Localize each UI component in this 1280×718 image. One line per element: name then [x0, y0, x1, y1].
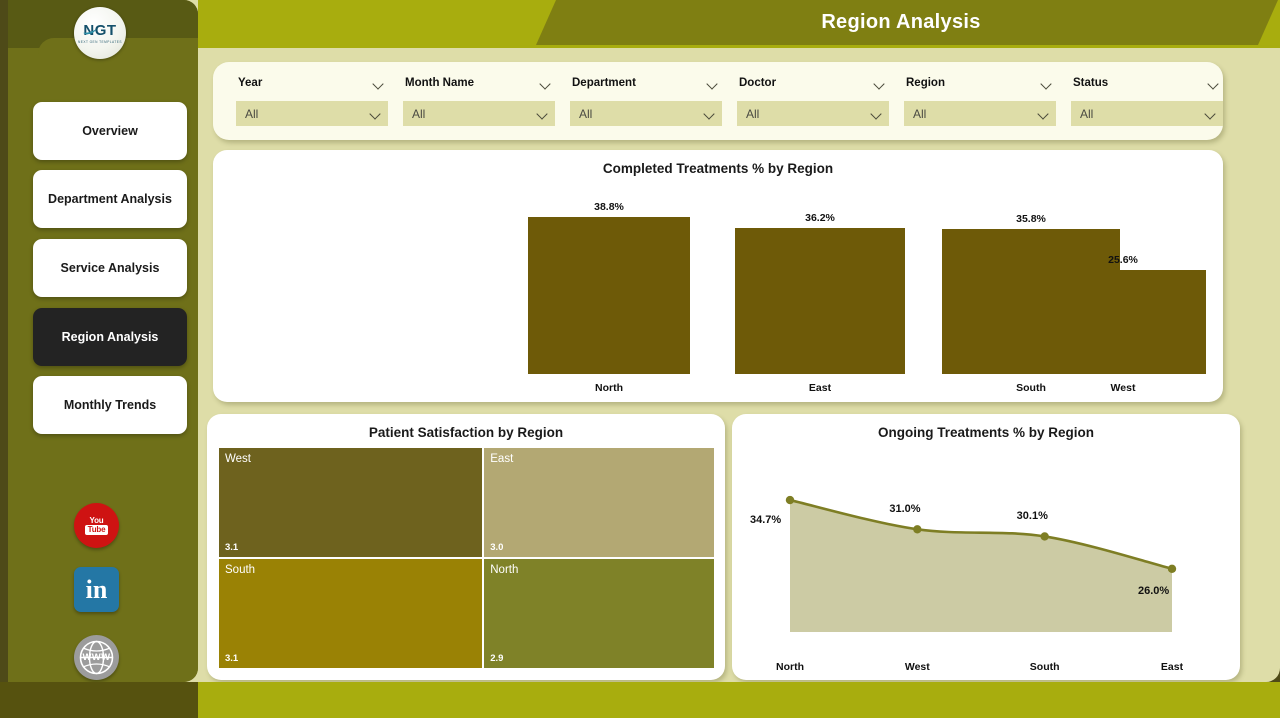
completed-treatments-card: Completed Treatments % by Region 38.8%No…: [213, 150, 1223, 402]
youtube-icon[interactable]: You Tube: [74, 503, 119, 548]
bar-value-label: 38.8%: [594, 201, 624, 213]
chevron-down-icon[interactable]: [373, 78, 384, 89]
ngt-logo: NGT NEXT GEN TEMPLATES: [74, 7, 126, 59]
treemap-tile-value: 2.9: [490, 653, 503, 664]
slicer-month-name[interactable]: Month NameAll: [403, 72, 555, 130]
slicer-doctor[interactable]: DoctorAll: [737, 72, 889, 130]
slicer-department[interactable]: DepartmentAll: [570, 72, 722, 130]
bar-group-north[interactable]: 38.8%: [528, 201, 690, 374]
filter-bar: YearAllMonth NameAllDepartmentAllDoctorA…: [213, 62, 1223, 140]
slicer-status[interactable]: StatusAll: [1071, 72, 1223, 130]
treemap-tile-value: 3.1: [225, 653, 238, 664]
sidebar-item-label: Monthly Trends: [64, 398, 156, 412]
linkedin-icon[interactable]: in: [74, 567, 119, 612]
axis-category-label: South: [995, 661, 1095, 673]
chevron-down-icon[interactable]: [370, 108, 381, 119]
sidebar-item-monthly-trends[interactable]: Monthly Trends: [33, 376, 187, 434]
footer-strip-left: [0, 682, 198, 718]
bar-category-label: South: [981, 382, 1081, 394]
page-title-banner: Region Analysis: [536, 0, 1278, 45]
dashboard-root: Region Analysis NGT NEXT GEN TEMPLATES O…: [0, 0, 1280, 718]
sidebar-item-label: Region Analysis: [62, 330, 159, 344]
slicer-dropdown[interactable]: All: [570, 101, 722, 126]
chevron-down-icon[interactable]: [1041, 78, 1052, 89]
slicer-dropdown[interactable]: All: [737, 101, 889, 126]
data-point-label: 31.0%: [889, 503, 920, 515]
bar-chart-plot: 38.8%North36.2%East35.8%South25.6%West: [213, 190, 1223, 402]
patient-satisfaction-card: Patient Satisfaction by Region West3.1Ea…: [207, 414, 725, 680]
sidebar-item-service-analysis[interactable]: Service Analysis: [33, 239, 187, 297]
ongoing-treatments-card: Ongoing Treatments % by Region 34.7%Nort…: [732, 414, 1240, 680]
slicer-header[interactable]: Status: [1071, 72, 1223, 94]
chart-title: Ongoing Treatments % by Region: [732, 425, 1240, 440]
bar-category-label: West: [1073, 382, 1173, 394]
slicer-header[interactable]: Department: [570, 72, 722, 94]
bar-category-label: East: [770, 382, 870, 394]
axis-category-label: North: [740, 661, 840, 673]
data-point-east[interactable]: [1168, 565, 1176, 573]
bar-group-west[interactable]: 25.6%: [1041, 254, 1206, 374]
area-chart-svg: [732, 450, 1240, 680]
treemap-tile-south[interactable]: South3.1: [219, 559, 482, 668]
logo-subtitle: NEXT GEN TEMPLATES: [78, 40, 122, 44]
chevron-down-icon[interactable]: [540, 78, 551, 89]
sidebar-item-overview[interactable]: Overview: [33, 102, 187, 160]
slicer-value: All: [245, 107, 258, 121]
slicer-header[interactable]: Doctor: [737, 72, 889, 94]
data-point-label: 34.7%: [750, 514, 781, 526]
slicer-value: All: [412, 107, 425, 121]
slicer-year[interactable]: YearAll: [236, 72, 388, 130]
sidebar-item-department-analysis[interactable]: Department Analysis: [33, 170, 187, 228]
slicer-label: Status: [1073, 77, 1108, 89]
footer-strip: [0, 682, 1280, 718]
chevron-down-icon[interactable]: [707, 78, 718, 89]
youtube-bottom-label: Tube: [85, 525, 109, 536]
treemap-tile-value: 3.0: [490, 542, 503, 553]
axis-category-label: East: [1122, 661, 1222, 673]
data-point-label: 26.0%: [1138, 585, 1169, 597]
bar-rect[interactable]: [735, 228, 905, 374]
www-label: WWW: [82, 652, 110, 663]
area-fill: [790, 500, 1172, 632]
chevron-down-icon[interactable]: [704, 108, 715, 119]
slicer-label: Region: [906, 77, 945, 89]
slicer-dropdown[interactable]: All: [403, 101, 555, 126]
axis-category-label: West: [867, 661, 967, 673]
sidebar-item-label: Department Analysis: [48, 192, 172, 206]
slicer-label: Department: [572, 77, 636, 89]
bar-value-label: 35.8%: [1016, 213, 1046, 225]
linkedin-glyph: in: [86, 577, 108, 603]
slicer-dropdown[interactable]: All: [236, 101, 388, 126]
treemap-tile-label: South: [225, 564, 482, 576]
slicer-value: All: [746, 107, 759, 121]
chevron-down-icon[interactable]: [1208, 78, 1219, 89]
bar-rect[interactable]: [1041, 270, 1206, 374]
slicer-label: Year: [238, 77, 262, 89]
chevron-down-icon[interactable]: [871, 108, 882, 119]
data-point-north[interactable]: [786, 496, 794, 504]
bar-value-label: 25.6%: [1108, 254, 1138, 266]
slicer-label: Doctor: [739, 77, 776, 89]
bar-group-east[interactable]: 36.2%: [735, 212, 905, 374]
slicer-value: All: [1080, 107, 1093, 121]
treemap-tile-north[interactable]: North2.9: [484, 559, 714, 668]
sidebar-item-label: Overview: [82, 124, 138, 138]
slicer-dropdown[interactable]: All: [1071, 101, 1223, 126]
slicer-header[interactable]: Month Name: [403, 72, 555, 94]
treemap-tile-east[interactable]: East3.0: [484, 448, 714, 557]
slicer-value: All: [579, 107, 592, 121]
treemap-tile-label: East: [490, 453, 714, 465]
bar-value-label: 36.2%: [805, 212, 835, 224]
slicer-label: Month Name: [405, 77, 474, 89]
chevron-down-icon[interactable]: [1205, 108, 1216, 119]
treemap-tile-label: North: [490, 564, 714, 576]
globe-icon[interactable]: WWW: [74, 635, 119, 680]
sidebar-item-label: Service Analysis: [61, 261, 160, 275]
data-point-label: 30.1%: [1017, 510, 1048, 522]
bar-rect[interactable]: [528, 217, 690, 374]
slicer-header[interactable]: Year: [236, 72, 388, 94]
data-point-west[interactable]: [913, 525, 921, 533]
treemap-tile-label: West: [225, 453, 482, 465]
youtube-top-label: You: [85, 516, 109, 525]
chart-title: Patient Satisfaction by Region: [207, 425, 725, 440]
treemap-tile-value: 3.1: [225, 542, 238, 553]
treemap-tile-west[interactable]: West3.1: [219, 448, 482, 557]
chevron-down-icon[interactable]: [537, 108, 548, 119]
data-point-south[interactable]: [1040, 532, 1048, 540]
slicer-header[interactable]: Region: [904, 72, 1056, 94]
slicer-value: All: [913, 107, 926, 121]
chevron-down-icon[interactable]: [874, 78, 885, 89]
treemap-plot: West3.1East3.0South3.1North2.9: [219, 448, 712, 668]
sidebar-item-region-analysis[interactable]: Region Analysis: [33, 308, 187, 366]
chevron-down-icon[interactable]: [1038, 108, 1049, 119]
bar-category-label: North: [559, 382, 659, 394]
page-title: Region Analysis: [821, 11, 980, 34]
area-chart-plot: 34.7%North31.0%West30.1%South26.0%East: [732, 450, 1240, 680]
chart-title: Completed Treatments % by Region: [213, 161, 1223, 176]
header-bar: Region Analysis: [198, 0, 1280, 48]
slicer-region[interactable]: RegionAll: [904, 72, 1056, 130]
slicer-dropdown[interactable]: All: [904, 101, 1056, 126]
